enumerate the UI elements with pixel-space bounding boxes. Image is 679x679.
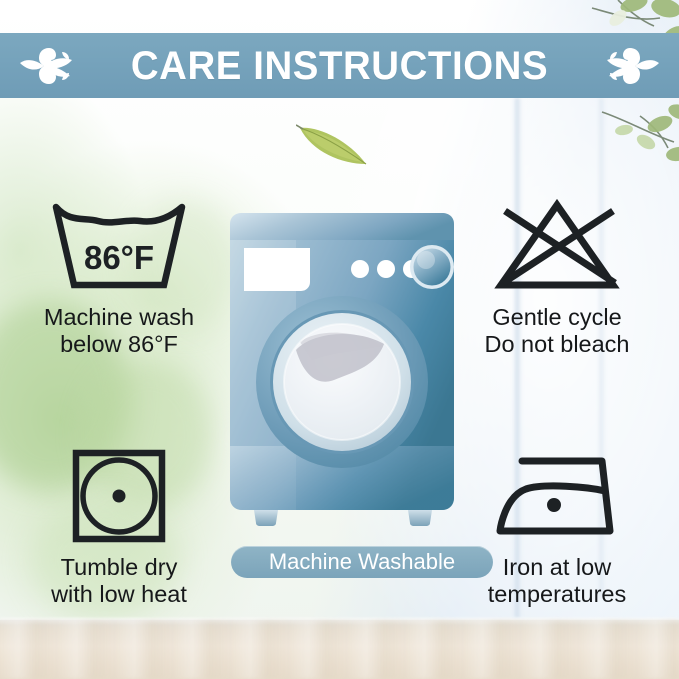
wash-tub-icon: 86°F	[14, 196, 224, 296]
page-title: CARE INSTRUCTIONS	[85, 46, 595, 86]
care-item-wash: 86°F Machine wash below 86°F	[14, 196, 224, 359]
floating-green-leaf	[296, 118, 372, 170]
care-item-bleach-caption: Gentle cycle Do not bleach	[452, 304, 662, 359]
wash-temperature-label: 86°F	[84, 239, 154, 276]
washer-door	[256, 296, 428, 468]
care-item-wash-caption: Machine wash below 86°F	[14, 304, 224, 359]
do-not-bleach-triangle-icon	[452, 196, 662, 296]
washer-feet	[254, 510, 432, 526]
iron-low-temperature-icon	[452, 446, 662, 546]
program-knob	[410, 245, 454, 289]
care-item-bleach: Gentle cycle Do not bleach	[452, 196, 662, 359]
washing-machine-illustration	[226, 210, 458, 532]
detergent-drawer	[244, 250, 308, 289]
fleur-de-lis-icon-right	[605, 43, 661, 89]
tumble-dry-low-icon	[14, 446, 224, 546]
banner: CARE INSTRUCTIONS	[0, 33, 679, 98]
care-item-dry: Tumble dry with low heat	[14, 446, 224, 609]
table-surface	[0, 620, 679, 679]
fleur-de-lis-icon	[18, 43, 74, 89]
care-item-dry-caption: Tumble dry with low heat	[14, 554, 224, 609]
machine-washable-badge: Machine Washable	[231, 546, 493, 578]
care-instructions-graphic: CARE INSTRUCTIONS 86°F Machi	[0, 0, 679, 679]
care-item-iron: Iron at low temperatures	[452, 446, 662, 609]
